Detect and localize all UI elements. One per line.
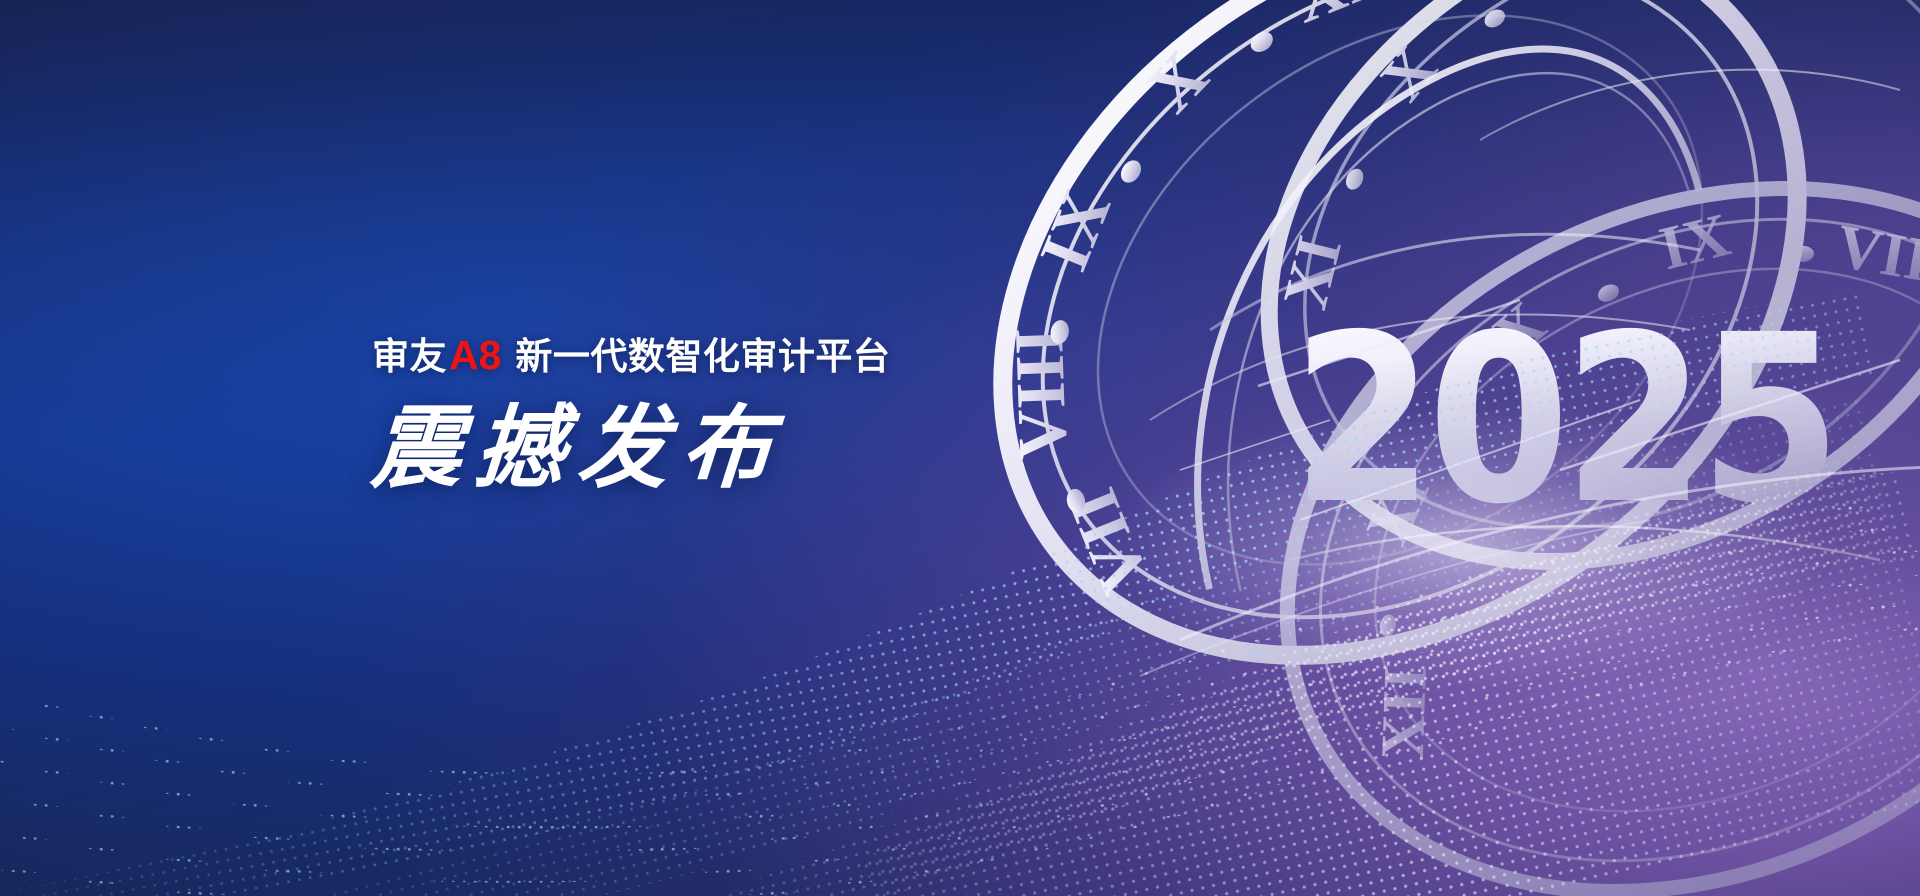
- brand-name: 审友: [372, 336, 447, 377]
- launch-headline: 震撼发布: [369, 403, 1095, 493]
- product-tagline: 新一代数智化审计平台: [503, 336, 890, 377]
- product-subheadline: 审友A8新一代数智化审计平台: [372, 334, 1092, 377]
- copy-block: 审友A8新一代数智化审计平台 震撼发布: [372, 334, 1092, 493]
- promo-banner: XII XI X IX VIII XI: [0, 0, 1920, 896]
- product-model-badge: A8: [447, 332, 503, 378]
